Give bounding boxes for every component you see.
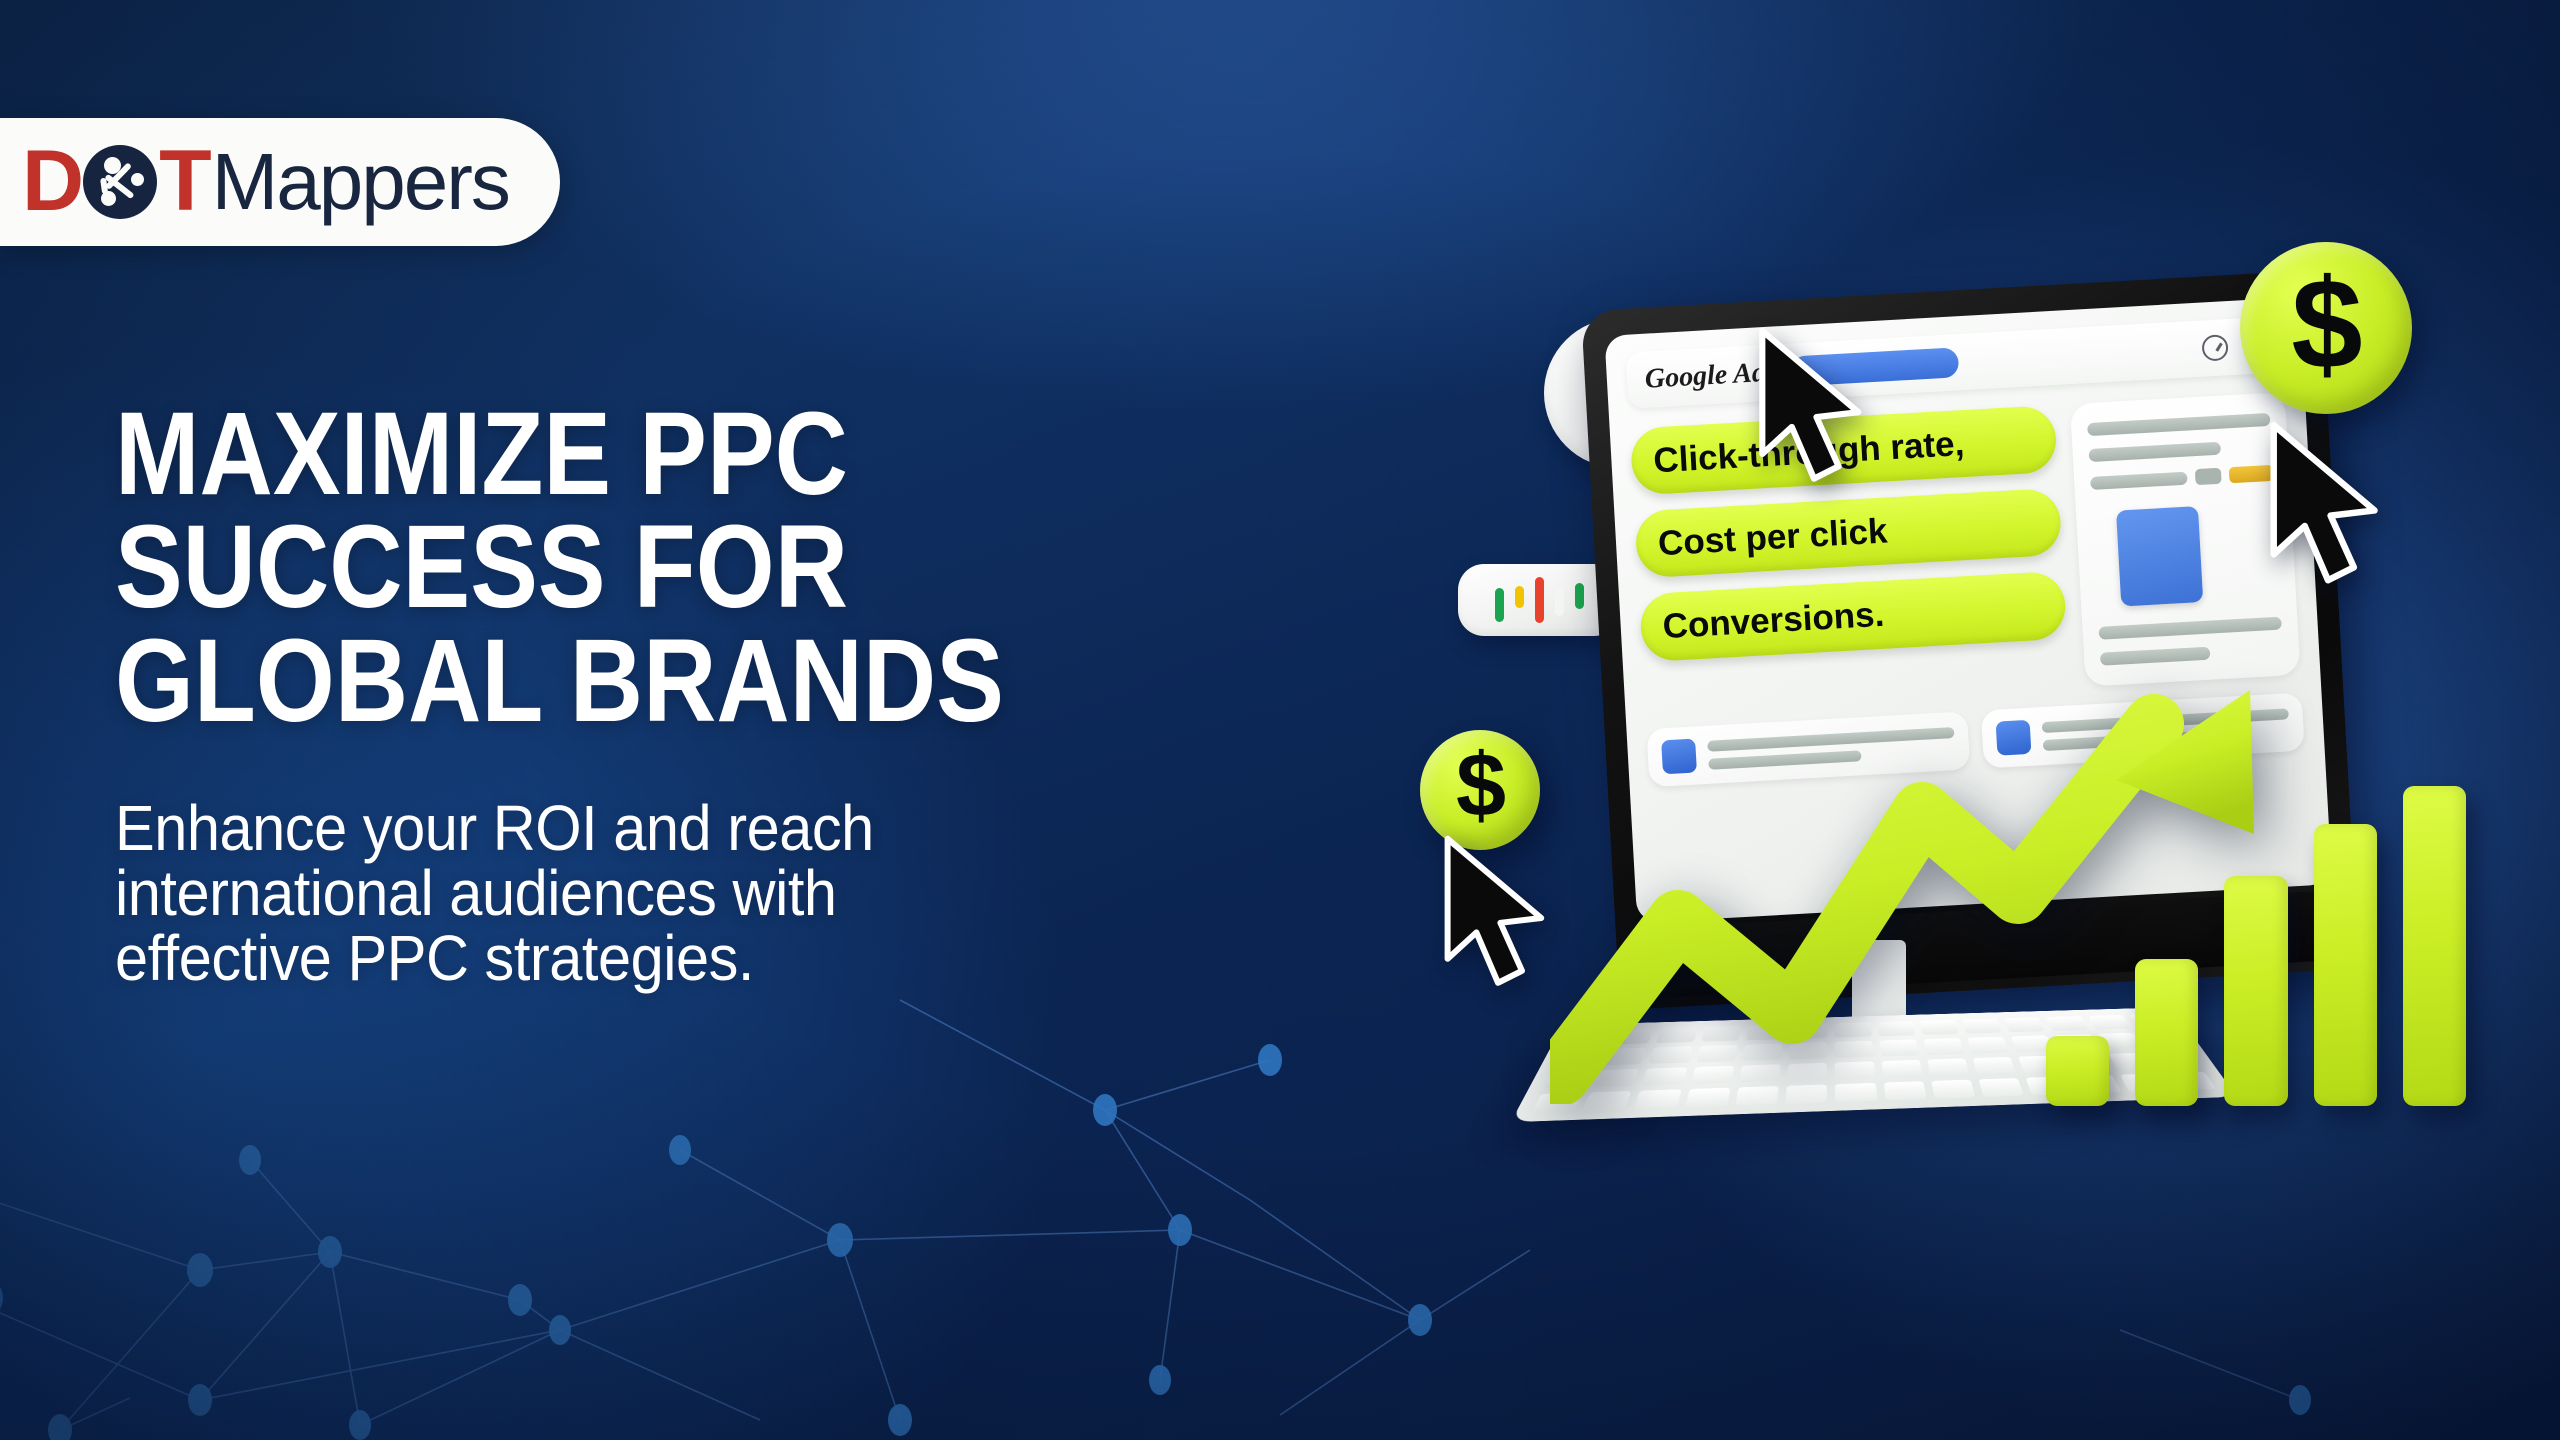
subhead-line-1: Enhance your ROI and reach <box>115 796 1287 861</box>
screen-topbar: Google Ads T <box>1625 316 2283 409</box>
hero-copy: MAXIMIZE PPC SUCCESS FOR GLOBAL BRANDS E… <box>115 398 1375 992</box>
headline-line-1: MAXIMIZE PPC <box>115 398 1199 511</box>
hero-subtitle: Enhance your ROI and reach international… <box>115 796 1287 992</box>
subhead-line-2: international audiences with <box>115 861 1287 926</box>
placeholder-bar <box>2087 413 2270 436</box>
keyword-pill[interactable]: Cost per click <box>1634 488 2062 579</box>
bar-5 <box>2403 786 2466 1106</box>
logo-letter-d: D <box>22 143 82 220</box>
bar-4 <box>2314 824 2377 1106</box>
dollar-coin-large: $ <box>2240 242 2412 414</box>
hero-illustration: Google Ads T Click-through rate, Cost pe… <box>1400 300 2560 1240</box>
dollar-sign-icon: $ <box>1456 735 1504 838</box>
bar-chart <box>2046 786 2466 1106</box>
clock-icon[interactable] <box>2201 334 2228 361</box>
placeholder-bar <box>2100 647 2210 666</box>
logo-lockup: D T Mappers <box>22 143 509 220</box>
banner-stage: D T Mappers MAXIMIZE PPC SUCCESS FOR GLO… <box>0 0 2560 1440</box>
placeholder-chip <box>2195 468 2222 485</box>
blue-thumbnail <box>2116 506 2203 606</box>
globe-people-icon <box>83 145 157 219</box>
keyword-pill[interactable]: Conversions. <box>1639 571 2067 662</box>
bar-2 <box>2135 959 2198 1106</box>
placeholder-bar <box>2090 471 2188 489</box>
logo-wordmark: Mappers <box>212 144 509 220</box>
bar-1 <box>2046 1036 2109 1106</box>
placeholder-row <box>2090 465 2274 491</box>
placeholder-bar <box>2089 442 2221 462</box>
cursor-pointer-left <box>1438 834 1558 990</box>
cursor-pointer-right <box>2262 420 2394 588</box>
placeholder-bar <box>2098 617 2281 640</box>
screen-body: Click-through rate, Cost per click Conve… <box>1630 392 2301 711</box>
subhead-line-3: effective PPC strategies. <box>115 926 1287 991</box>
cursor-pointer-top <box>1752 326 1876 486</box>
brand-logo[interactable]: D T Mappers <box>0 118 560 246</box>
dollar-sign-icon: $ <box>2291 251 2360 398</box>
logo-letter-t: T <box>159 143 210 220</box>
headline-line-3: GLOBAL BRANDS <box>115 625 1199 738</box>
page-title: MAXIMIZE PPC SUCCESS FOR GLOBAL BRANDS <box>115 398 1199 738</box>
headline-line-2: SUCCESS FOR <box>115 511 1199 624</box>
dollar-coin-small: $ <box>1420 730 1540 850</box>
bar-3 <box>2224 876 2287 1106</box>
